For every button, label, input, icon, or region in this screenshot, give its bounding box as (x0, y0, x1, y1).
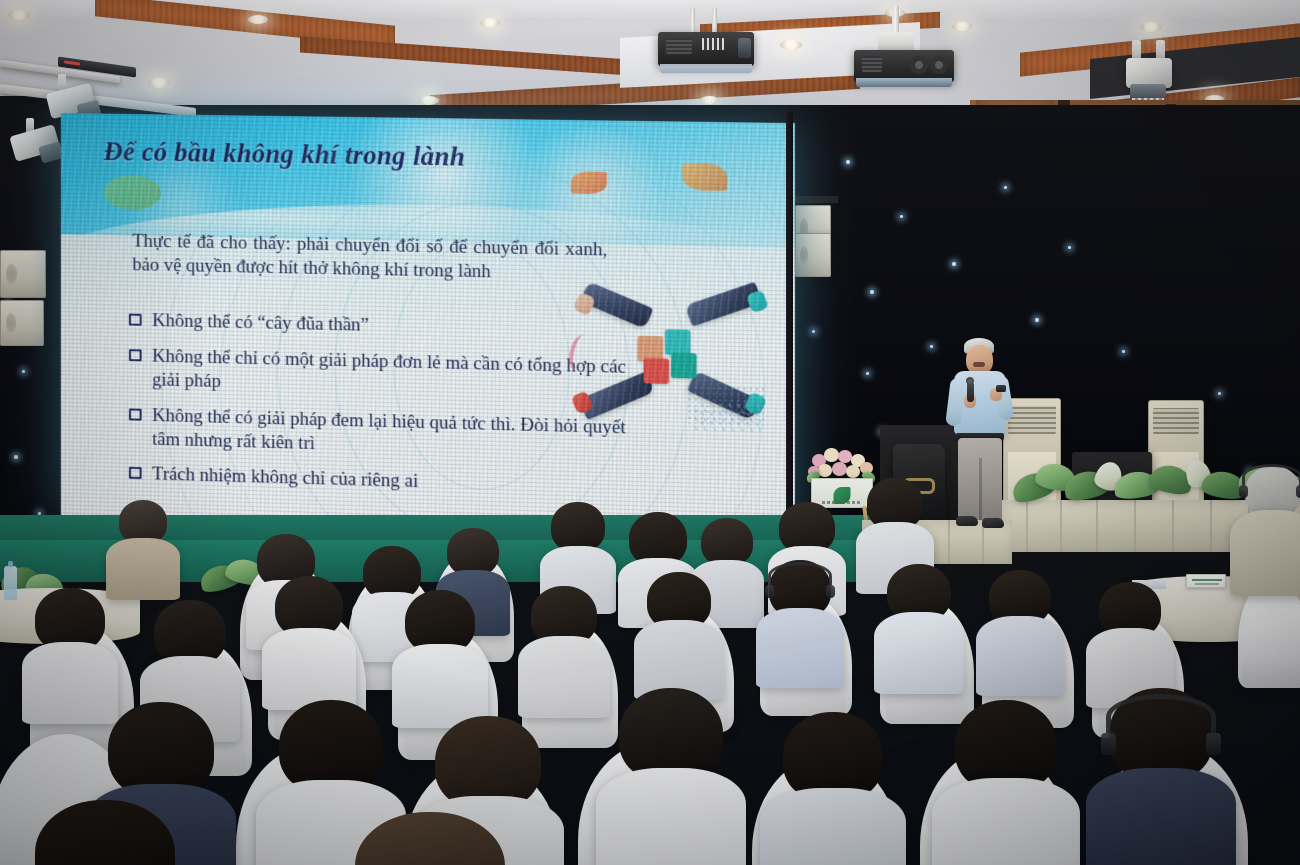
attendee (1086, 582, 1174, 702)
water-bottle (4, 566, 17, 600)
led-presentation-screen: Để có bầu không khí trong lành Thực tế đ… (61, 113, 795, 539)
presenter-trousers (958, 438, 1002, 520)
attendee (20, 800, 190, 865)
attendee (340, 812, 520, 865)
line-array-speaker (0, 250, 46, 298)
bullet-text: Trách nhiệm không chỉ của riêng ai (152, 463, 641, 501)
headphones-icon (1106, 694, 1216, 740)
presentation-clicker (996, 385, 1006, 392)
attendee (874, 564, 964, 686)
puzzle-piece-teal (665, 329, 690, 355)
line-array-speaker (795, 233, 831, 277)
stage-light (12, 118, 66, 178)
attendee (262, 576, 356, 702)
slide-bullet-list: Không thể có “cây đũa thần” Không thể ch… (129, 308, 641, 512)
presenter-shoe-right (982, 518, 1004, 528)
puzzle-piece-red (644, 358, 669, 384)
headphones-icon (768, 562, 832, 590)
list-item: Trách nhiệm không chỉ của riêng ai (129, 462, 641, 500)
slide: Để có bầu không khí trong lành Thực tế đ… (61, 113, 795, 539)
bullet-text: Không thể có giải pháp đem lại hiệu quả … (152, 404, 641, 465)
bullet-text: Không thể chỉ có một giải pháp đơn lẻ mà… (152, 345, 641, 405)
attendee-with-headset (1086, 688, 1236, 865)
microphone (967, 382, 974, 402)
attendee (976, 570, 1064, 690)
conference-hall-scene: EXIT (0, 0, 1300, 865)
checkbox-bullet-icon (129, 408, 142, 420)
presenter-mouth (973, 362, 985, 367)
slide-paragraph: Thực tế đã cho thấy: phải chuyển đổi số … (132, 230, 607, 288)
puzzle-piece-green (671, 353, 696, 379)
attendee (22, 588, 118, 716)
attendee-with-headset (756, 560, 844, 680)
speaker-mount (790, 196, 838, 203)
presenter-shoe-left (956, 516, 978, 526)
checkbox-bullet-icon (129, 313, 142, 325)
checkbox-bullet-icon (129, 467, 142, 479)
attendee (760, 712, 906, 865)
attendee (392, 590, 488, 720)
checkbox-bullet-icon (129, 349, 142, 361)
list-item: Không thể chỉ có một giải pháp đơn lẻ mà… (129, 344, 641, 404)
attendee (932, 700, 1080, 865)
headphones-icon (1242, 464, 1300, 490)
presenter (940, 338, 1020, 530)
hands-puzzle-illustration (574, 281, 769, 435)
line-array-speaker (0, 300, 44, 346)
attendee (106, 500, 180, 598)
attendee-with-headset (1230, 466, 1300, 596)
name-card (1186, 574, 1226, 588)
screen-bezel (786, 112, 793, 532)
list-item: Không thể có giải pháp đem lại hiệu quả … (129, 403, 641, 464)
attendee (634, 572, 724, 694)
attendee (596, 688, 746, 865)
